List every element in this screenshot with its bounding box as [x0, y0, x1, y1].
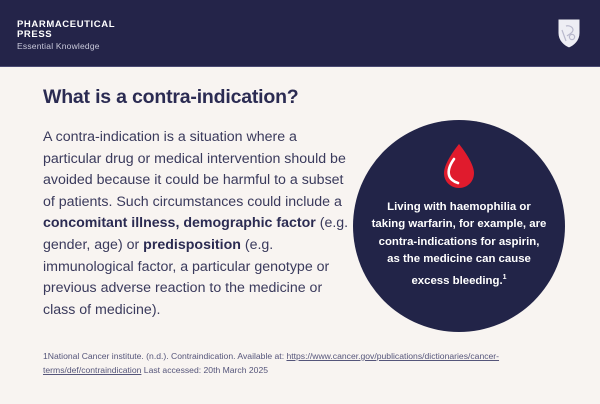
- brand-logo: PHARMACEUTICAL PRESS Essential Knowledge: [17, 20, 115, 51]
- callout-circle: Living with haemophilia or taking warfar…: [353, 120, 565, 332]
- footnote-accessed: Last accessed: 20th March 2025: [141, 365, 268, 375]
- body-paragraph: A contra-indication is a situation where…: [43, 127, 355, 321]
- callout-text: Living with haemophilia or taking warfar…: [371, 199, 547, 290]
- page-title: What is a contra-indication?: [43, 86, 299, 109]
- brand-line-2: PRESS: [17, 30, 115, 40]
- blood-drop-icon: [440, 142, 478, 190]
- callout-footnote-marker: 1: [503, 274, 507, 281]
- paragraph-part-1: A contra-indication is a situation where…: [43, 129, 346, 210]
- shield-crest-icon: [556, 17, 582, 49]
- footnote-text-before: National Cancer institute. (n.d.). Contr…: [48, 351, 287, 361]
- callout-body: Living with haemophilia or taking warfar…: [372, 201, 547, 286]
- paragraph-bold-2: predisposition: [143, 237, 241, 253]
- header-bar: PHARMACEUTICAL PRESS Essential Knowledge: [0, 0, 600, 67]
- paragraph-bold-1: concomitant illness, demographic factor: [43, 215, 316, 231]
- slide-canvas: PHARMACEUTICAL PRESS Essential Knowledge…: [0, 0, 600, 404]
- brand-tagline: Essential Knowledge: [17, 42, 115, 51]
- footnote-citation: 1National Cancer institute. (n.d.). Cont…: [43, 349, 543, 377]
